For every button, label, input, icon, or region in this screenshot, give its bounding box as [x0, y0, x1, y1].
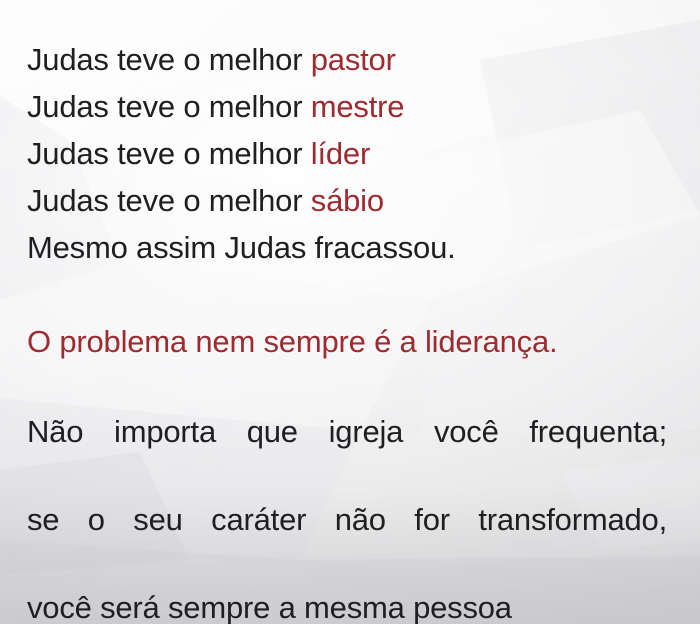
- quote-line-2-prefix: Judas teve o melhor: [27, 89, 311, 124]
- quote-line-2: Judas teve o melhor mestre: [27, 83, 456, 130]
- quote-line-4-highlight: sábio: [311, 183, 384, 218]
- highlight-statement-line: O problema nem sempre é a liderança.: [27, 318, 557, 365]
- closing-line-3: você será sempre a mesma pessoa: [27, 586, 667, 624]
- quote-line-3-prefix: Judas teve o melhor: [27, 136, 311, 171]
- stanza-judas-list: Judas teve o melhor pastor Judas teve o …: [27, 36, 456, 271]
- quote-line-2-highlight: mestre: [311, 89, 405, 124]
- quote-line-3: Judas teve o melhor líder: [27, 130, 456, 177]
- quote-line-3-highlight: líder: [311, 136, 370, 171]
- quote-content: Judas teve o melhor pastor Judas teve o …: [0, 0, 700, 624]
- quote-line-5: Mesmo assim Judas fracassou.: [27, 224, 456, 271]
- closing-line-1: Não importa que igreja você frequenta;: [27, 410, 667, 498]
- quote-line-5-prefix: Mesmo assim Judas fracassou.: [27, 230, 456, 265]
- quote-line-1-prefix: Judas teve o melhor: [27, 42, 311, 77]
- quote-line-1: Judas teve o melhor pastor: [27, 36, 456, 83]
- stanza-closing-paragraph: Não importa que igreja você frequenta; s…: [27, 410, 667, 624]
- stanza-highlight-statement: O problema nem sempre é a liderança.: [27, 318, 557, 365]
- closing-line-2: se o seu caráter não for transformado,: [27, 498, 667, 586]
- quote-poster: Judas teve o melhor pastor Judas teve o …: [0, 0, 700, 624]
- quote-line-4-prefix: Judas teve o melhor: [27, 183, 311, 218]
- quote-line-4: Judas teve o melhor sábio: [27, 177, 456, 224]
- quote-line-1-highlight: pastor: [311, 42, 396, 77]
